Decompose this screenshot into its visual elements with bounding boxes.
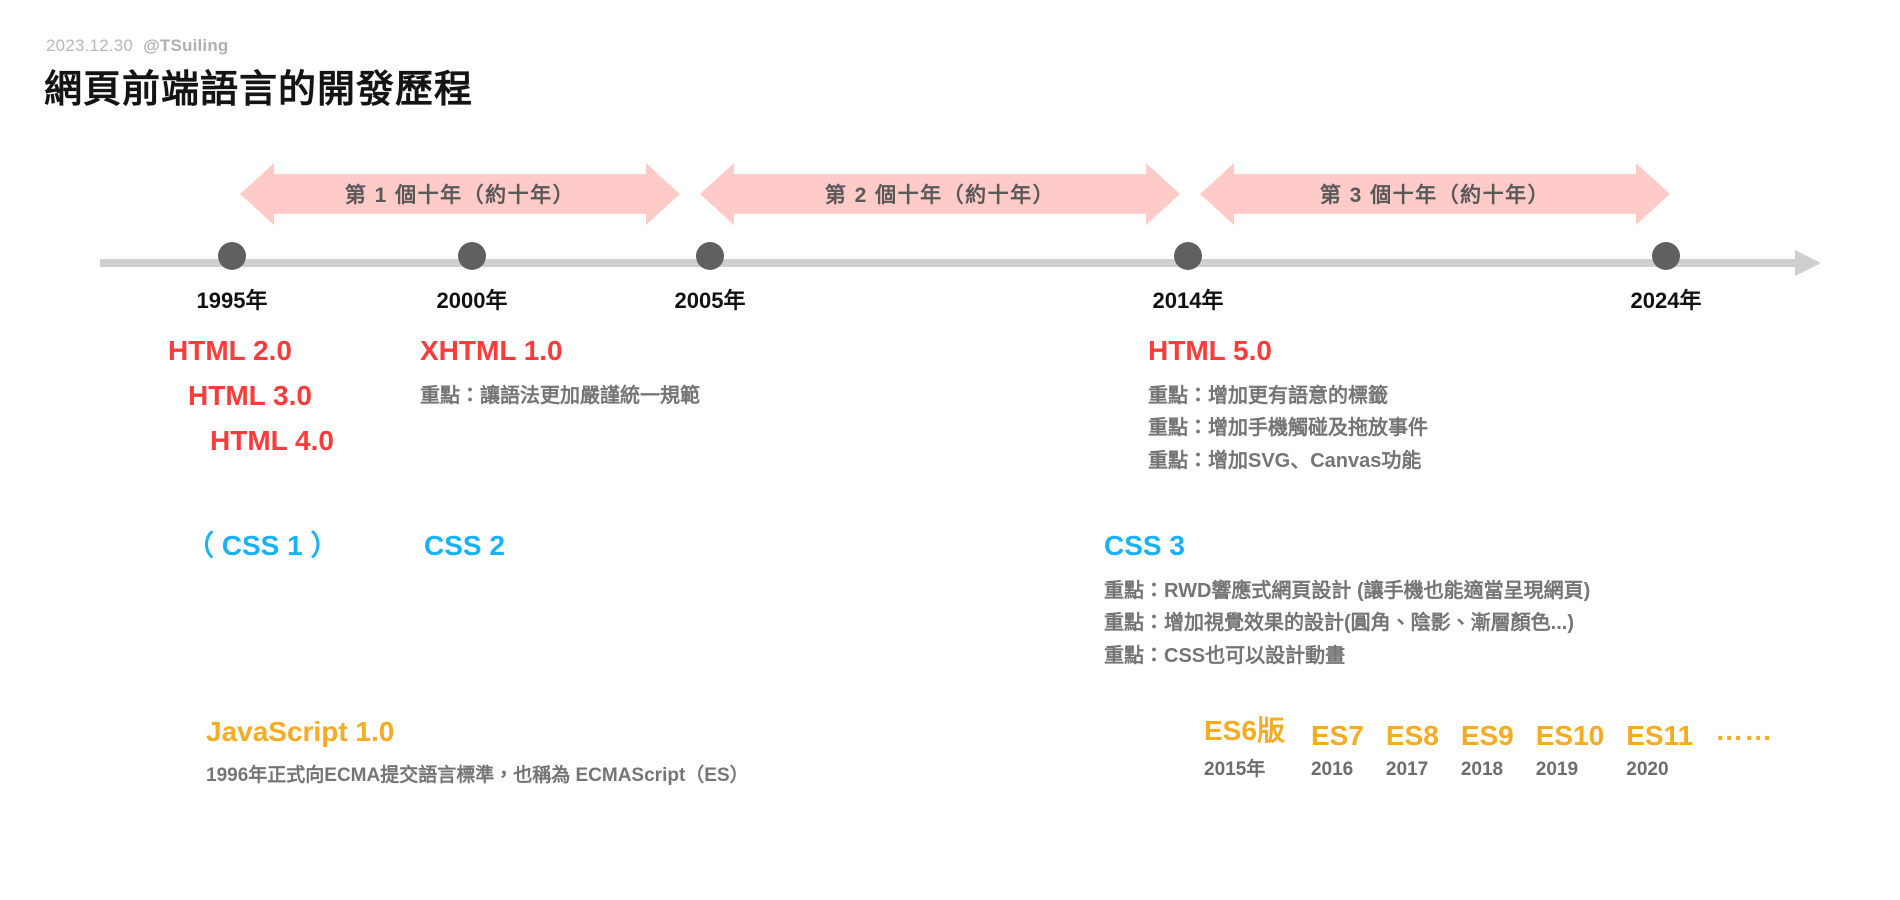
- decade-band-2: 第 2 個十年（約十年）: [700, 163, 1180, 225]
- ecmascript-version: ES102019: [1536, 719, 1605, 781]
- ecmascript-version-name: ES9: [1461, 719, 1514, 753]
- timeline-dot: [458, 242, 486, 270]
- decade-band-1: 第 1 個十年（約十年）: [240, 163, 680, 225]
- decade-band-3: 第 3 個十年（約十年）: [1200, 163, 1670, 225]
- ecmascript-version-year: 2016: [1311, 759, 1353, 781]
- entry-xhtml: XHTML 1.0 重點：讓語法更加嚴謹統一規範: [420, 333, 700, 412]
- entry-html-early: HTML 2.0HTML 3.0HTML 4.0: [168, 333, 334, 458]
- axis-line: [100, 259, 1800, 267]
- entry-bullet: 1996年正式向ECMA提交語言標準，也稱為 ECMAScript（ES）: [206, 761, 749, 792]
- entry-heading: XHTML 1.0: [420, 333, 700, 368]
- ecmascript-version-name: ES10: [1536, 719, 1605, 753]
- entry-heading: JavaScript 1.0: [206, 714, 749, 749]
- entry-css1: （ CSS 1 ）: [186, 528, 338, 563]
- ecmascript-version-name: ES7: [1311, 719, 1364, 753]
- ecmascript-version-name: ES8: [1386, 719, 1439, 753]
- entry-bullet: 重點：增加更有語意的標籤: [1148, 380, 1428, 412]
- ecmascript-version: ES92018: [1461, 719, 1514, 781]
- decade-band-label: 第 2 個十年（約十年）: [700, 163, 1180, 225]
- entry-heading: HTML 3.0: [188, 378, 334, 413]
- ecmascript-version: ES6版2015年: [1204, 714, 1285, 781]
- ecmascript-ellipsis: ……: [1715, 714, 1773, 748]
- timeline-dot: [696, 242, 724, 270]
- decade-band-label: 第 3 個十年（約十年）: [1200, 163, 1670, 225]
- entry-heading: （ CSS 1 ）: [186, 528, 338, 563]
- entry-bullet: 重點：增加SVG、Canvas功能: [1148, 445, 1428, 477]
- entry-heading: HTML 4.0: [210, 423, 334, 458]
- ecmascript-version-year: 2020: [1626, 759, 1668, 781]
- decade-band-label: 第 1 個十年（約十年）: [240, 163, 680, 225]
- entry-ecmascript: ES6版2015年ES72016ES82017ES92018ES102019ES…: [1204, 714, 1773, 781]
- entry-html5: HTML 5.0 重點：增加更有語意的標籤 重點：增加手機觸碰及拖放事件 重點：…: [1148, 333, 1428, 477]
- entry-heading: CSS 2: [424, 528, 505, 563]
- entry-bullet: 重點：RWD響應式網頁設計 (讓手機也能適當呈現網頁): [1104, 575, 1590, 607]
- timeline-dot: [218, 242, 246, 270]
- timeline-year-label: 2024年: [1631, 283, 1702, 315]
- ecmascript-version-year: 2015年: [1204, 754, 1265, 781]
- timeline-dot: [1652, 242, 1680, 270]
- entry-javascript: JavaScript 1.0 1996年正式向ECMA提交語言標準，也稱為 EC…: [206, 714, 749, 792]
- decade-bands: 第 1 個十年（約十年）第 2 個十年（約十年）第 3 個十年（約十年）: [0, 163, 1900, 225]
- ecmascript-version: ES112020: [1626, 719, 1693, 781]
- timeline-year-label: 1995年: [197, 283, 268, 315]
- entry-heading: HTML 2.0: [168, 333, 334, 368]
- timeline-year-label: 2005年: [675, 283, 746, 315]
- date-text: 2023.12.30: [46, 36, 133, 55]
- entry-css3: CSS 3 重點：RWD響應式網頁設計 (讓手機也能適當呈現網頁) 重點：增加視…: [1104, 528, 1590, 672]
- ecmascript-version-year: 2019: [1536, 759, 1578, 781]
- timeline-year-label: 2014年: [1153, 283, 1224, 315]
- timeline-dot: [1174, 242, 1202, 270]
- entry-bullet: 重點：CSS也可以設計動畫: [1104, 640, 1590, 672]
- ecmascript-version: ES82017: [1386, 719, 1439, 781]
- timeline-axis: [0, 248, 1900, 278]
- entry-css2: CSS 2: [424, 528, 505, 563]
- byline: 2023.12.30@TSuiling: [46, 36, 229, 56]
- author-handle: @TSuiling: [143, 36, 228, 55]
- entry-bullet: 重點：增加手機觸碰及拖放事件: [1148, 412, 1428, 444]
- ecmascript-version: ES72016: [1311, 719, 1364, 781]
- entry-bullet: 重點：增加視覺效果的設計(圓角、陰影、漸層顏色...): [1104, 607, 1590, 639]
- entry-heading: CSS 3: [1104, 528, 1590, 563]
- axis-arrowhead-icon: [1795, 250, 1821, 276]
- timeline-diagram: 2023.12.30@TSuiling 網頁前端語言的開發歷程 第 1 個十年（…: [0, 0, 1900, 900]
- ecmascript-version-year: 2017: [1386, 759, 1428, 781]
- timeline-year-label: 2000年: [437, 283, 508, 315]
- ecmascript-version-year: 2018: [1461, 759, 1503, 781]
- entry-bullet: 重點：讓語法更加嚴謹統一規範: [420, 380, 700, 412]
- entry-heading: HTML 5.0: [1148, 333, 1428, 368]
- page-title: 網頁前端語言的開發歷程: [44, 58, 473, 113]
- ecmascript-version-name: ES6版: [1204, 714, 1285, 748]
- ecmascript-version-name: ES11: [1626, 719, 1693, 753]
